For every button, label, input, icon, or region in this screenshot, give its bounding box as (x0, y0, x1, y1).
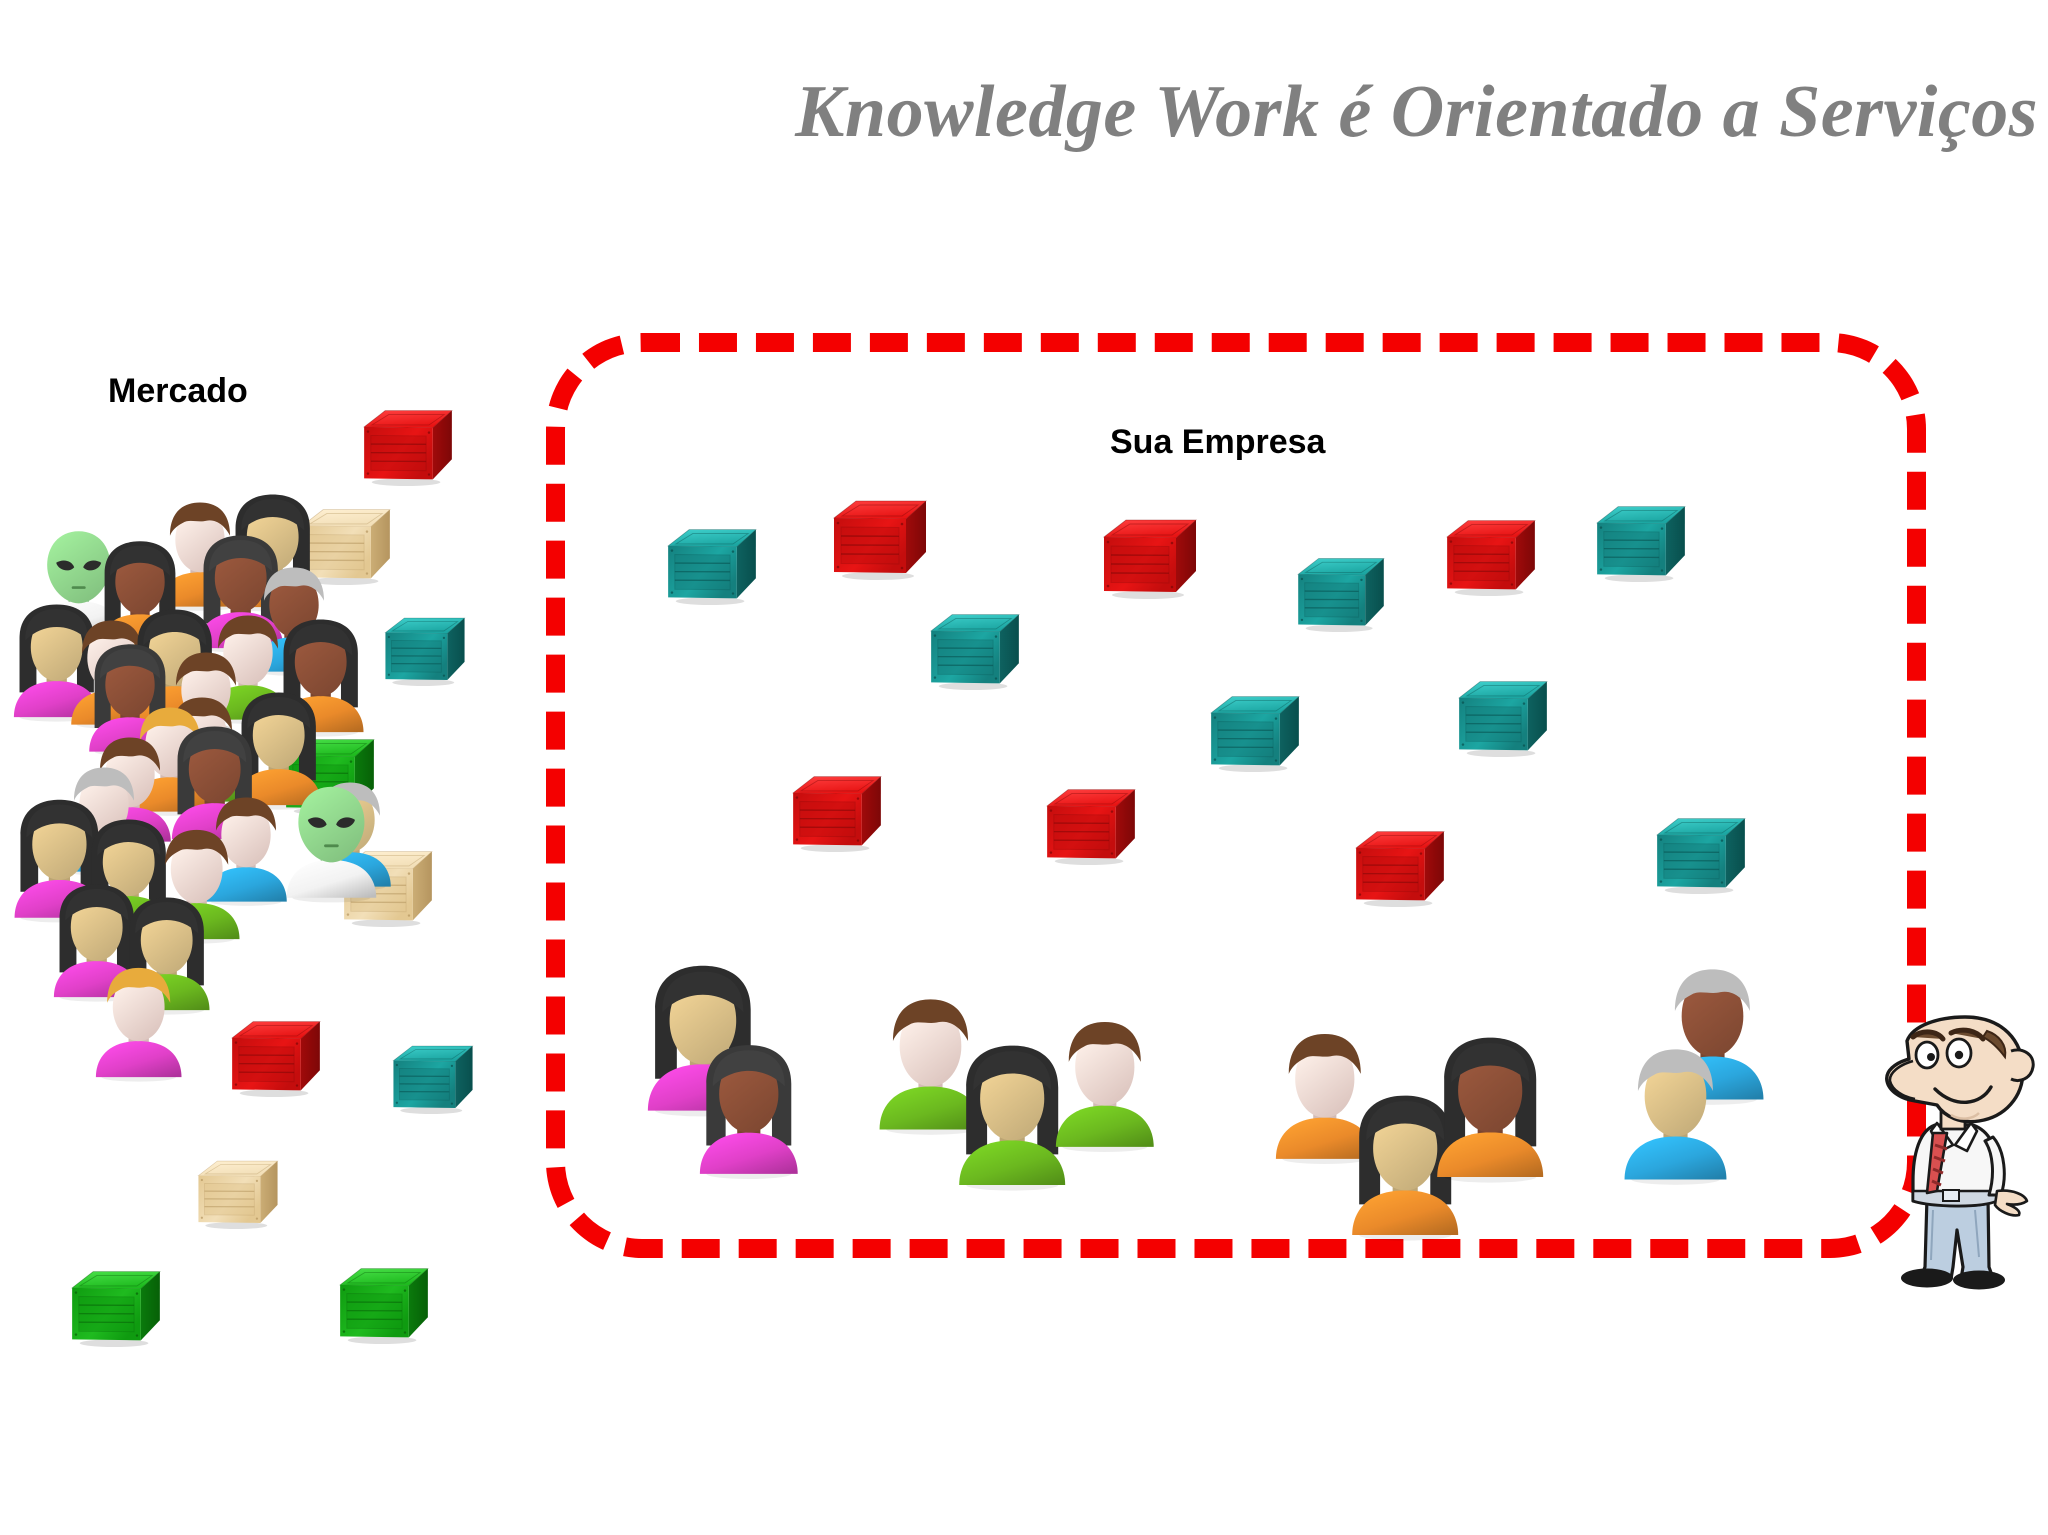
crate-market-wood-3 (195, 1155, 281, 1229)
crate-company-red-3 (1443, 514, 1539, 596)
crate-company-teal-2 (1294, 552, 1388, 632)
crate-company-teal-5 (1207, 690, 1303, 772)
crate-market-red-1 (360, 404, 456, 486)
avatar-company-8 (1420, 1032, 1560, 1185)
slide-canvas: Knowledge Work é Orientado a Serviços Me… (0, 0, 2048, 1535)
label-sua-empresa: Sua Empresa (1110, 423, 1325, 462)
cartoon-businessman (1855, 1005, 2048, 1295)
crate-company-red-2 (1100, 513, 1200, 599)
crate-market-green-3 (336, 1262, 432, 1344)
crate-company-teal-1 (664, 523, 760, 605)
label-mercado: Mercado (108, 372, 248, 411)
crate-market-red-2 (228, 1015, 324, 1097)
crate-market-green-2 (68, 1265, 164, 1347)
avatar-market-26 (82, 960, 195, 1084)
avatar-company-5 (1040, 1013, 1170, 1155)
avatar-company-10 (1608, 1040, 1743, 1188)
crate-market-teal-1 (382, 612, 468, 686)
crate-company-teal-7 (1653, 812, 1749, 894)
crate-company-red-5 (1043, 783, 1139, 865)
crate-company-red-1 (830, 494, 930, 580)
crate-company-red-6 (1352, 825, 1448, 907)
crate-company-teal-6 (1455, 675, 1551, 757)
avatar-market-alien-2 (272, 775, 391, 905)
crate-company-red-4 (789, 770, 885, 852)
avatar-company-2 (684, 1040, 814, 1182)
crate-company-teal-4 (927, 608, 1023, 690)
page-title: Knowledge Work é Orientado a Serviços (0, 72, 2038, 153)
crate-market-teal-2 (390, 1040, 476, 1114)
crate-company-teal-3 (1593, 500, 1689, 582)
